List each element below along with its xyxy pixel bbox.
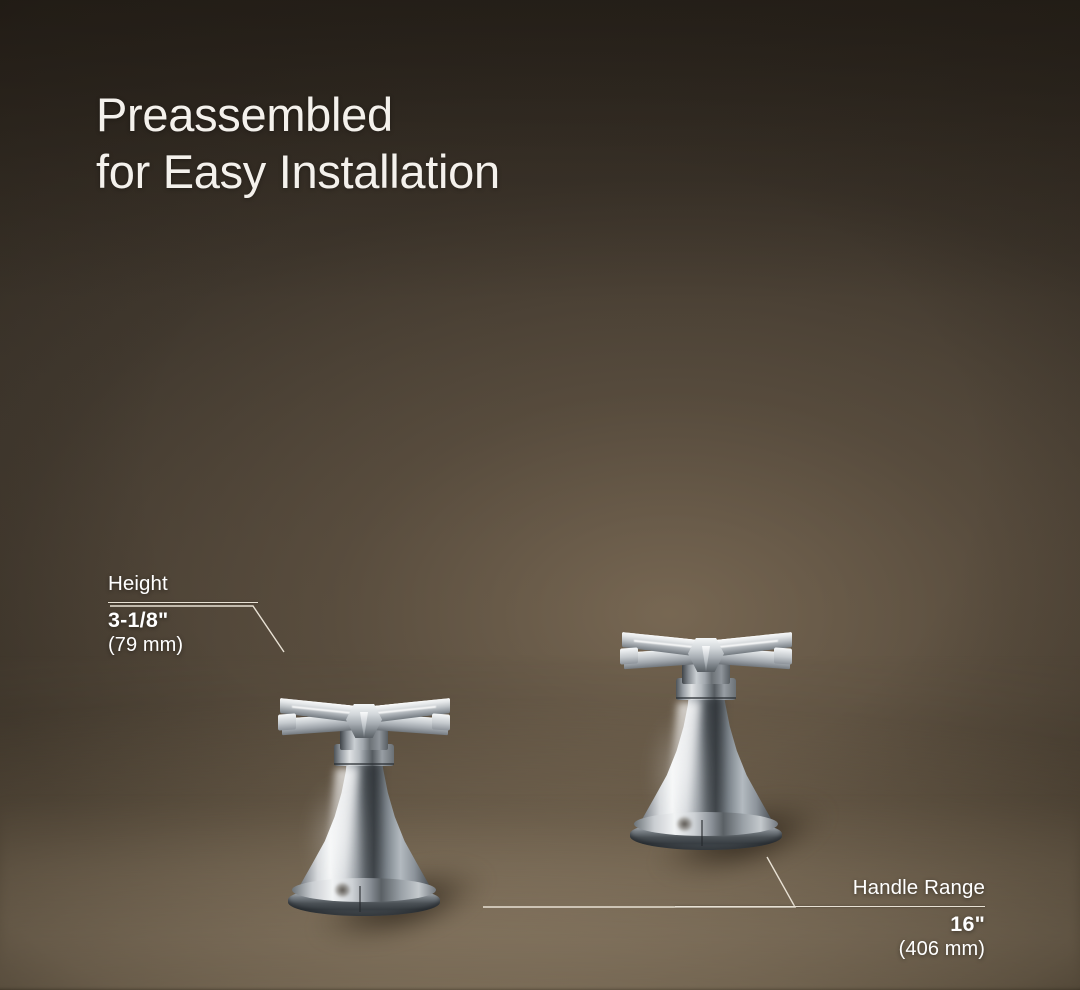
handle-collar-seam: [334, 763, 394, 765]
handle-base-top: [634, 812, 778, 836]
callout-handle-range-title: Handle Range: [675, 876, 985, 900]
handle-base-seam: [359, 886, 361, 912]
handle-collar-seam: [676, 697, 736, 699]
handle-base-seam: [701, 820, 703, 846]
handle-base-notch: [676, 816, 693, 832]
product-handle-right: [618, 616, 794, 852]
callout-height: Height 3-1/8" (79 mm): [108, 572, 258, 658]
cross-arm-tip-east: [432, 713, 450, 730]
callout-height-rule: [108, 602, 258, 603]
page-title: Preassembled for Easy Installation: [96, 86, 500, 200]
product-marketing-image: Preassembled for Easy Installation: [0, 0, 1080, 990]
cross-arm-tip-west: [278, 713, 296, 730]
callout-handle-range-value-mm: (406 mm): [675, 937, 985, 962]
callout-handle-range-value: 16": [675, 912, 985, 937]
callout-height-title: Height: [108, 572, 258, 596]
callout-handle-range-rule: [675, 906, 985, 907]
callout-height-value: 3-1/8": [108, 608, 258, 633]
callout-height-value-mm: (79 mm): [108, 633, 258, 658]
handle-base-notch: [334, 882, 351, 898]
handle-cross-top: [276, 682, 452, 754]
callout-handle-range: Handle Range 16" (406 mm): [675, 876, 985, 962]
cross-arm-tip-west: [620, 647, 638, 664]
handle-cross-top: [618, 616, 794, 688]
product-handle-left: [276, 682, 452, 918]
handle-base-top: [292, 878, 436, 902]
cross-arm-tip-east: [774, 647, 792, 664]
